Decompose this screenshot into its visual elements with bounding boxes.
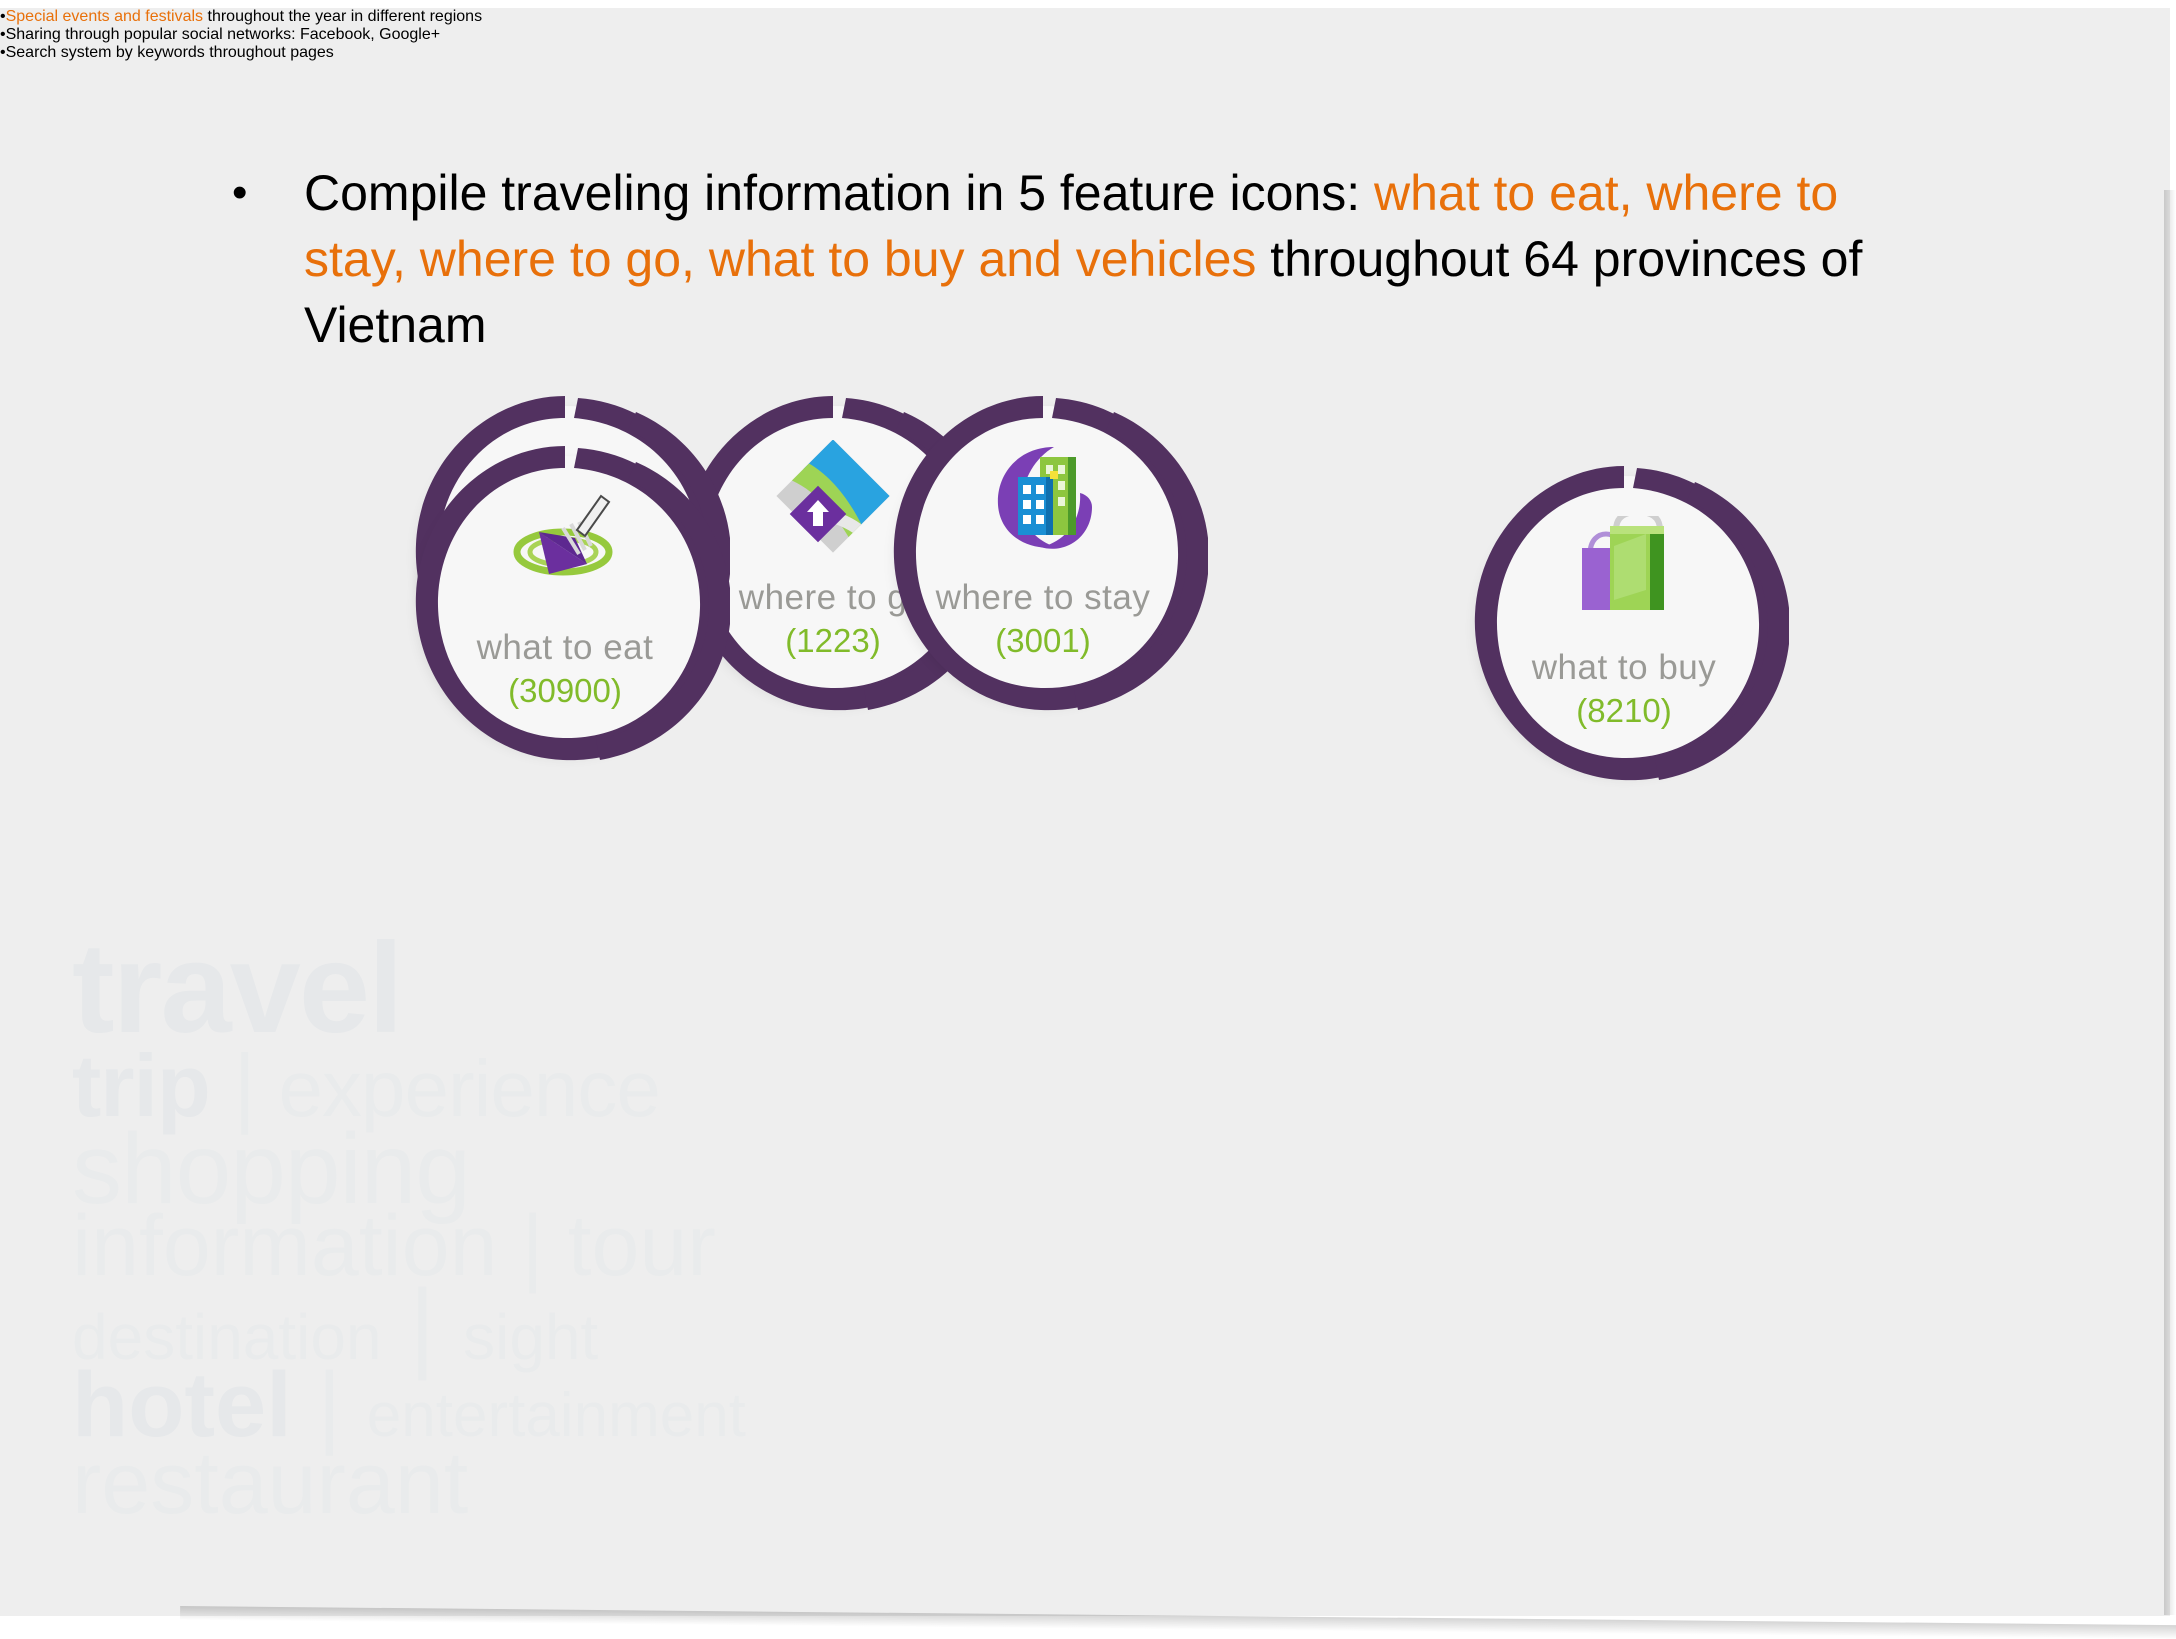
feature-label: what to eat bbox=[477, 628, 654, 668]
bullet-highlight: Special events and festivals bbox=[6, 8, 203, 25]
watermark-row-destination: destination | sight bbox=[72, 1276, 892, 1374]
watermark-word-restaurant: restaurant bbox=[72, 1433, 468, 1532]
top-bullet-text: Compile traveling information in 5 featu… bbox=[304, 160, 1872, 358]
feature-icon-cluster: what to eat (30900) bbox=[400, 388, 1800, 1158]
feature-content: what to eat (30900) bbox=[400, 438, 730, 768]
feature-content: what to buy (8210) bbox=[1459, 458, 1789, 788]
watermark-word-hotel: hotel bbox=[72, 1354, 292, 1456]
feature-what-to-eat[interactable]: what to eat (30900) bbox=[400, 438, 730, 768]
plate-fork-icon bbox=[505, 490, 625, 608]
watermark-separator: | bbox=[521, 1198, 543, 1294]
bottom-bullet-list: •Special events and festivals throughout… bbox=[0, 8, 2170, 62]
bullet-item-special-events: •Special events and festivals throughout… bbox=[0, 8, 2170, 26]
moon-buildings-icon bbox=[984, 440, 1102, 558]
watermark-separator: | bbox=[317, 1354, 341, 1456]
watermark-separator: | bbox=[409, 1269, 435, 1381]
watermark-word-entertainment: entertainment bbox=[367, 1381, 746, 1450]
bullet-item-search-system: •Search system by keywords throughout pa… bbox=[0, 44, 2170, 62]
feature-count: (8210) bbox=[1576, 692, 1671, 730]
bullet-text: throughout the year in different regions bbox=[203, 8, 482, 25]
top-bullet-paragraph: • Compile traveling information in 5 fea… bbox=[232, 160, 1872, 358]
road-landscape-icon bbox=[772, 440, 894, 558]
feature-label: what to buy bbox=[1532, 648, 1717, 688]
watermark-word-tour: tour bbox=[568, 1198, 716, 1294]
feature-content: where to stay (3001) bbox=[878, 388, 1208, 718]
feature-where-to-stay[interactable]: where to stay (3001) bbox=[878, 388, 1208, 718]
feature-what-to-buy[interactable]: what to buy (8210) bbox=[1459, 458, 1789, 788]
bullet-text: Search system by keywords throughout pag… bbox=[6, 44, 334, 61]
watermark-row-hotel: hotel | entertainment bbox=[72, 1360, 892, 1450]
watermark-row-restaurant: restaurant bbox=[72, 1440, 892, 1526]
watermark-word-information: information bbox=[72, 1198, 497, 1294]
bullet-item-social-sharing: •Sharing through popular social networks… bbox=[0, 26, 2170, 44]
feature-count: (3001) bbox=[995, 622, 1090, 660]
watermark-word-destination: destination bbox=[72, 1301, 382, 1373]
watermark-separator: | bbox=[233, 1036, 255, 1135]
feature-label: where to stay bbox=[936, 578, 1151, 618]
feature-count: (30900) bbox=[508, 672, 622, 710]
bullet-text: Sharing through popular social networks:… bbox=[6, 26, 440, 43]
watermark-word-sight: sight bbox=[463, 1301, 598, 1373]
shopping-bags-icon bbox=[1568, 510, 1680, 628]
top-bullet-part1: Compile traveling information in 5 featu… bbox=[304, 165, 1374, 221]
watermark-row-information: information | tour bbox=[72, 1204, 892, 1288]
watermark-word-travel: travel bbox=[72, 917, 402, 1060]
watermark-word-trip: trip bbox=[72, 1036, 210, 1135]
slide-canvas: travel trip | experience shopping inform… bbox=[0, 8, 2170, 1616]
bullet-glyph: • bbox=[232, 164, 247, 222]
feature-count: (1223) bbox=[785, 622, 880, 660]
